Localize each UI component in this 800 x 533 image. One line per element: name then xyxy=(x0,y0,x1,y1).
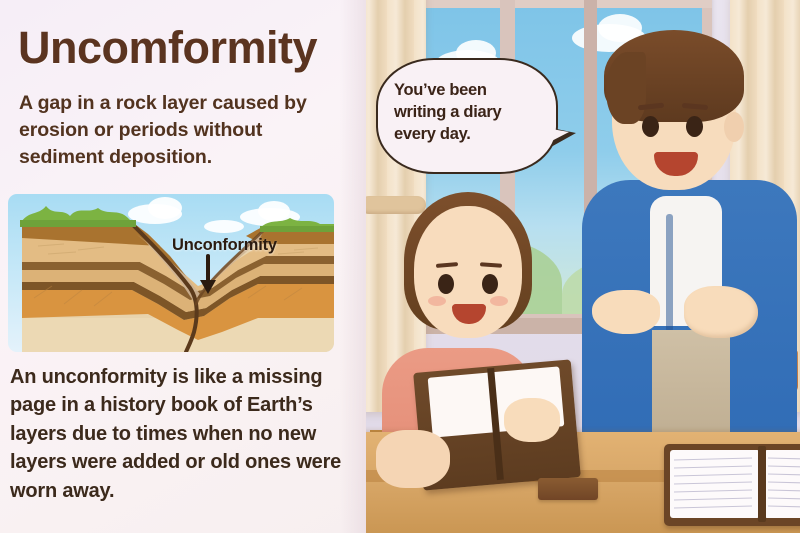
illustration-scene: You’ve been writing a diary every day. xyxy=(366,0,800,533)
girl-cheek xyxy=(428,296,446,306)
explanation-text: An unconformity is like a missing page i… xyxy=(10,363,355,505)
man-hair-strand xyxy=(606,52,646,124)
man-ear xyxy=(724,112,744,142)
girl-arm xyxy=(376,430,450,488)
curtain-tieback xyxy=(366,196,426,214)
man-eye xyxy=(686,116,703,137)
hoodie-zipper xyxy=(666,214,673,332)
small-notebook xyxy=(538,478,598,500)
geology-diagram xyxy=(8,194,334,352)
rock-strata-illustration xyxy=(8,194,334,352)
definition-text: A gap in a rock layer caused by erosion … xyxy=(19,90,349,171)
girl-cheek xyxy=(490,296,508,306)
open-book-ruled-lines xyxy=(664,444,800,526)
open-book-spine xyxy=(758,446,766,522)
speech-line-1: You’ve been xyxy=(394,80,544,102)
man-left-hand xyxy=(592,290,660,334)
girl-eye xyxy=(438,274,454,294)
man-pants xyxy=(652,330,730,440)
page-title: Uncomformity xyxy=(18,24,358,71)
speech-line-2: writing a diary xyxy=(394,102,544,124)
unconformity-label: Unconformity xyxy=(172,236,277,255)
man-right-hand xyxy=(684,286,758,338)
speech-bubble-tail-fill xyxy=(540,127,569,147)
page-root: Uncomformity A gap in a rock layer cause… xyxy=(0,0,800,533)
girl-hand xyxy=(504,398,560,442)
speech-line-3: every day. xyxy=(394,124,544,146)
girl-eye xyxy=(482,274,498,294)
window-mullion xyxy=(412,0,712,8)
man-eye xyxy=(642,116,659,137)
left-info-panel: Uncomformity A gap in a rock layer cause… xyxy=(0,0,366,533)
speech-bubble-text: You’ve been writing a diary every day. xyxy=(394,80,544,145)
